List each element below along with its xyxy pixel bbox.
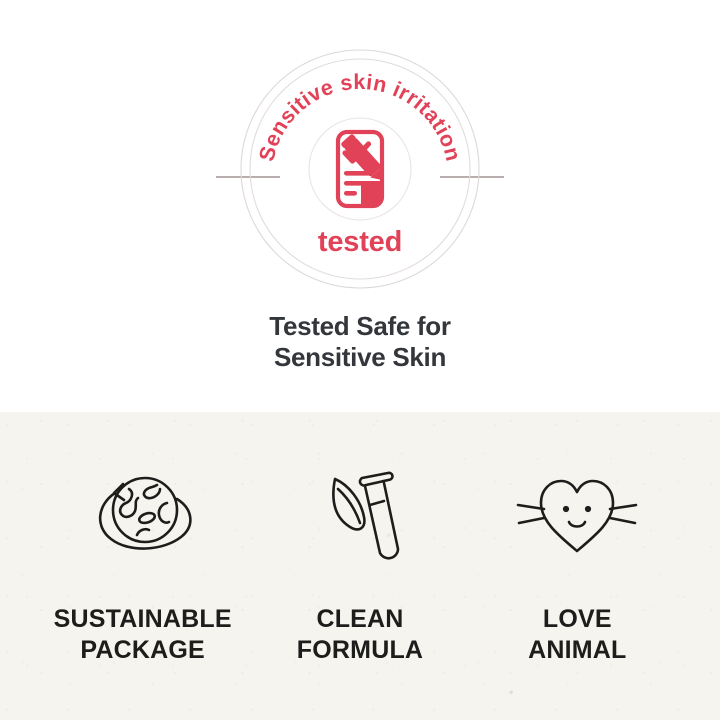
badge-graphic: Sensitive skin irritation tested (240, 49, 480, 289)
heart-cat-face-icon (516, 467, 638, 562)
feature-label-line-1: SUSTAINABLE (54, 604, 232, 635)
feature-sustainable-package-label: SUSTAINABLE PACKAGE (54, 604, 232, 665)
feature-clean-formula-label: CLEAN FORMULA (297, 604, 423, 665)
feature-sustainable-package: SUSTAINABLE PACKAGE (34, 412, 251, 665)
sensitive-skin-badge: Sensitive skin irritation tested (240, 49, 480, 289)
brand-values-section: SUSTAINABLE PACKAGE (0, 412, 720, 720)
badge-caption-line-2: Sensitive Skin (269, 342, 450, 373)
globe-recycle-icon (85, 467, 201, 562)
feature-label-line-2: FORMULA (297, 635, 423, 666)
tested-badge-section: Sensitive skin irritation tested (0, 0, 720, 412)
badge-caption: Tested Safe for Sensitive Skin (269, 311, 450, 372)
feature-love-animal: LOVE ANIMAL (469, 412, 686, 665)
badge-bottom-text: tested (318, 226, 402, 258)
feature-label-line-1: CLEAN (297, 604, 423, 635)
feature-list: SUSTAINABLE PACKAGE (0, 412, 720, 720)
clipboard-check-pencil-icon (338, 132, 390, 206)
feature-label-line-2: ANIMAL (528, 635, 626, 666)
product-badges-page: Sensitive skin irritation tested (0, 0, 720, 720)
badge-caption-line-1: Tested Safe for (269, 311, 450, 342)
leaf-test-tube-icon (302, 467, 418, 562)
feature-clean-formula: CLEAN FORMULA (251, 412, 468, 665)
feature-label-line-2: PACKAGE (54, 635, 232, 666)
feature-love-animal-label: LOVE ANIMAL (528, 604, 626, 665)
feature-label-line-1: LOVE (528, 604, 626, 635)
